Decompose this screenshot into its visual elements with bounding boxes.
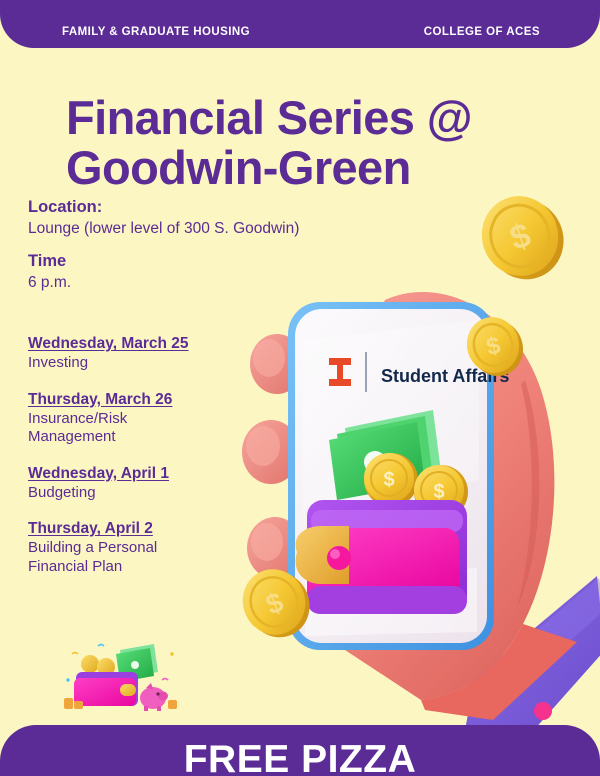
bottom-banner: FREE PIZZA xyxy=(0,725,600,776)
top-banner-right-label: COLLEGE OF ACES xyxy=(424,26,540,38)
event-date: Wednesday, April 1 xyxy=(28,464,278,484)
top-banner: FAMILY & GRADUATE HOUSING COLLEGE OF ACE… xyxy=(0,0,600,48)
event-info-block: Location: Lounge (lower level of 300 S. … xyxy=(28,197,398,293)
svg-text:$: $ xyxy=(433,481,444,503)
event-date: Thursday, April 2 xyxy=(28,519,278,539)
page-title-line-1: Financial Series @ xyxy=(66,91,472,144)
time-label: Time xyxy=(28,251,398,272)
floating-coin-large: $ xyxy=(471,185,573,291)
wallet-piggybank-illustration xyxy=(58,632,186,720)
event-topic-line-2: Financial Plan xyxy=(28,558,278,577)
location-label: Location: xyxy=(28,197,398,218)
page-title-line-2: Goodwin-Green xyxy=(66,143,586,193)
free-pizza-label: FREE PIZZA xyxy=(184,738,417,776)
event-topic-line-1: Budgeting xyxy=(28,484,278,503)
top-banner-left-label: FAMILY & GRADUATE HOUSING xyxy=(62,26,250,38)
location-value: Lounge (lower level of 300 S. Goodwin) xyxy=(28,218,398,239)
event-topic-line-1: Building a Personal xyxy=(28,539,278,558)
event-topic-line-1: Investing xyxy=(28,354,278,373)
wallet-3d xyxy=(296,500,467,614)
page-title: Financial Series @ Goodwin-Green xyxy=(66,93,586,193)
svg-text:$: $ xyxy=(383,469,394,491)
list-item: Thursday, April 2 Building a Personal Fi… xyxy=(28,519,278,576)
event-date: Wednesday, March 25 xyxy=(28,334,278,354)
event-topic-line-2: Management xyxy=(28,428,278,447)
info-spacer xyxy=(28,239,398,251)
event-date: Thursday, March 26 xyxy=(28,390,278,410)
poster-canvas: Student Affairs $ xyxy=(0,0,600,776)
list-item: Thursday, March 26 Insurance/Risk Manage… xyxy=(28,390,278,447)
schedule-list: Wednesday, March 25 Investing Thursday, … xyxy=(28,334,278,593)
time-value: 6 p.m. xyxy=(28,272,398,293)
event-topic-line-1: Insurance/Risk xyxy=(28,410,278,429)
list-item: Wednesday, April 1 Budgeting xyxy=(28,464,278,503)
list-item: Wednesday, March 25 Investing xyxy=(28,334,278,373)
